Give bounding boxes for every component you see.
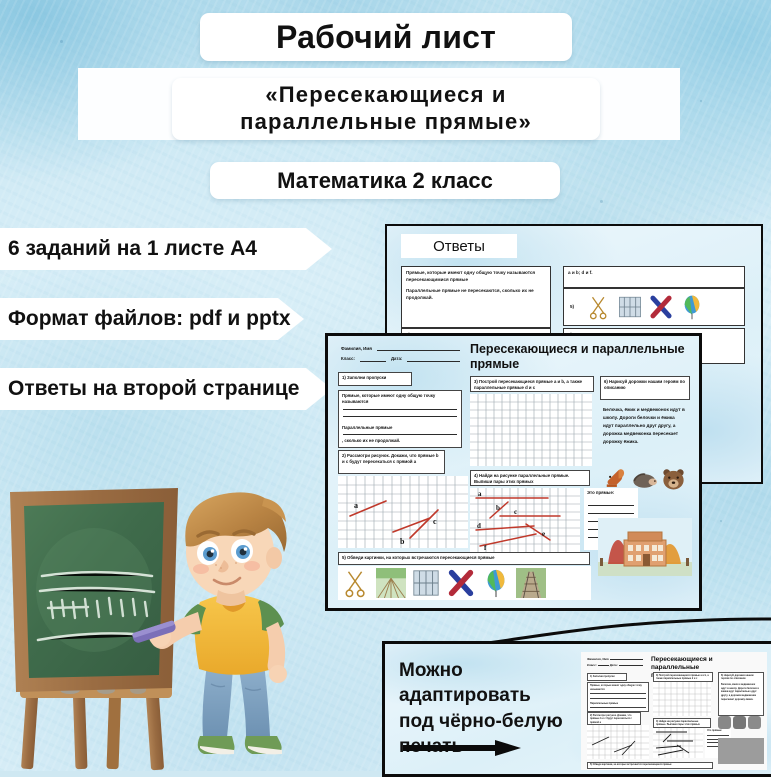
task-6-body: Белочка, ёжик и медвежонок идут в школу.…: [600, 404, 688, 447]
svg-text:e: e: [542, 530, 545, 538]
bw-text-line-1: Можно адаптировать: [399, 658, 569, 709]
answer-1b-text: Параллельные прямые не пересекаются, ско…: [402, 285, 550, 303]
bw-student-name-label: Фамилия, Имя: [587, 657, 609, 661]
answer-5-number: 5): [566, 301, 578, 312]
task-5-icon-strip[interactable]: [338, 566, 591, 600]
bw-title-line-1: Пересекающиеся и параллельные: [651, 656, 759, 672]
field-road-icon[interactable]: [376, 568, 406, 598]
letter-x-icon: [648, 294, 674, 320]
bw-task-4-grid: [653, 728, 703, 758]
bw-school-building-image: [718, 738, 764, 764]
balloon-icon: [679, 294, 705, 320]
answer-1-text: Прямые, которые имеют одну общую точку н…: [402, 267, 550, 285]
feature-badge-tasks-label: 6 заданий на 1 листе А4: [8, 237, 257, 261]
bw-task-1-body-1: Прямые, которые имеют одну общую точку н…: [590, 684, 646, 691]
worksheet-title-line-1: Пересекающиеся и параллельные: [470, 342, 692, 357]
scissors-icon: [586, 294, 612, 320]
worksheet-title-line-2: прямые: [470, 357, 692, 372]
feature-badge-tasks: 6 заданий на 1 листе А4: [0, 228, 332, 270]
task-1-body-2: Параллельные прямые: [339, 423, 461, 433]
bw-bear-icon: [748, 716, 761, 729]
task-1-answer-line-3[interactable]: [343, 434, 457, 435]
task-6-heading: 6) Нарисуй дорожки нашим героям по описа…: [601, 377, 689, 394]
date-label: Дата:: [388, 354, 405, 364]
task-6-heading-box: 6) Нарисуй дорожки нашим героям по описа…: [600, 376, 690, 400]
svg-text:b: b: [496, 504, 500, 512]
bw-task-3-grid: [653, 682, 711, 716]
hand-right: [269, 665, 287, 683]
class-label: Класс:: [338, 354, 358, 364]
bw-task-6-heading: 6) Нарисуй дорожки нашим героям по описа…: [721, 674, 761, 681]
railway-icon[interactable]: [516, 568, 546, 598]
window-icon: [617, 294, 643, 320]
answer-5-icons: [586, 293, 741, 321]
task-1-heading: 1) Заполни пропуски: [339, 373, 411, 383]
answers-sheet-title: Ответы: [401, 234, 517, 258]
svg-text:a: a: [478, 490, 482, 498]
bw-worksheet-preview[interactable]: Фамилия, Имя Класс: Дата: Пересекающиеся…: [581, 652, 767, 770]
scissors-icon[interactable]: [341, 568, 371, 598]
bw-date-label: Дата:: [610, 663, 618, 667]
green-chalkboard: [10, 488, 178, 692]
feature-badge-format: Формат файлов: pdf и pptx: [0, 298, 304, 340]
worksheet-title: Пересекающиеся и параллельные прямые: [470, 342, 692, 373]
answer-item-4: a и b; d и f.: [563, 266, 745, 288]
bw-text-line-2: под чёрно-белую: [399, 709, 569, 734]
task-1-body-box: Прямые, которые имеют одну общую точку н…: [338, 390, 462, 448]
bw-hedgehog-icon: [733, 716, 746, 729]
letter-x-icon[interactable]: [446, 568, 476, 598]
page-title: Рабочий лист: [200, 13, 572, 61]
task-4-heading-box: 4) Найди на рисунке параллельные прямые.…: [470, 470, 590, 486]
answer-item-5: 5): [563, 288, 745, 326]
task-1-answer-line-1[interactable]: [343, 409, 457, 410]
task-5-heading-box: 5) Обведи картинки, на которых встречают…: [338, 552, 590, 565]
task-3-grid[interactable]: [470, 394, 592, 466]
svg-text:a: a: [354, 501, 358, 510]
task-2-heading-box: 2) Рассмотри рисунок. Докажи, что прямые…: [338, 450, 445, 474]
worksheet-preview[interactable]: Фамилия, Имя Класс: Дата: Пересекающиеся…: [325, 333, 702, 611]
svg-text:b: b: [400, 537, 405, 546]
bw-task-3-heading: 3) Построй пересекающиеся прямые a и b, …: [656, 674, 710, 681]
window-icon[interactable]: [411, 568, 441, 598]
task-5-heading: 5) Обведи картинки, на которых встречают…: [339, 553, 589, 563]
page-subtitle: «Пересекающиеся и параллельные прямые»: [172, 78, 600, 140]
task-1-body-1: Прямые, которые имеют одну общую точку н…: [339, 391, 461, 408]
date-field[interactable]: [407, 361, 460, 362]
bw-task-5-heading: 5) Обведи картинки, на которых встречают…: [590, 764, 710, 766]
answer-item-1: Прямые, которые имеют одну общую точку н…: [401, 266, 551, 328]
bw-task-6-body: Белочка, ёжик и медвежонок идут в школу.…: [721, 683, 761, 702]
feature-badge-answers-label: Ответы на второй странице: [8, 377, 299, 401]
svg-text:c: c: [433, 517, 437, 526]
bw-squirrel-icon: [718, 716, 731, 729]
bw-task-4-heading: 4) Найди на рисунке параллельные прямые.…: [656, 720, 708, 727]
bear-icon: [660, 465, 687, 492]
class-field[interactable]: [360, 361, 386, 362]
task-2-heading: 2) Рассмотри рисунок. Докажи, что прямые…: [339, 451, 444, 468]
page-subtitle-line-1: «Пересекающиеся и: [265, 82, 506, 109]
feature-badge-format-label: Формат файлов: pdf и pptx: [8, 307, 291, 331]
grade-label: Математика 2 класс: [210, 162, 560, 199]
squirrel-icon: [600, 465, 627, 492]
task-2-grid-figure[interactable]: a b c: [338, 476, 468, 548]
bw-task-1-heading: 1) Заполни пропуски: [590, 675, 624, 678]
school-building-image: [598, 518, 692, 576]
svg-text:d: d: [477, 522, 481, 530]
bw-task-2-heading: 2) Рассмотри рисунок. Докажи, что прямые…: [590, 714, 638, 724]
task-1-body-3: , сколько их не продолжай.: [339, 436, 461, 446]
task-4-grid-figure[interactable]: a b c d e f: [470, 488, 580, 556]
hedgehog-icon: [630, 465, 657, 492]
right-arrow-icon: [403, 740, 521, 756]
task-6-animal-icons: [600, 464, 688, 492]
balloon-icon[interactable]: [481, 568, 511, 598]
task-4-heading: 4) Найди на рисунке параллельные прямые.…: [471, 471, 589, 488]
student-name-label: Фамилия, Имя: [338, 344, 375, 354]
svg-text:c: c: [514, 508, 517, 516]
answer-4-text: a и b; d и f.: [564, 267, 744, 278]
page-subtitle-line-2: параллельные прямые»: [240, 109, 532, 136]
task-1-heading-box: 1) Заполни пропуски: [338, 372, 412, 386]
student-name-field[interactable]: [377, 350, 460, 351]
feature-badge-answers: Ответы на второй странице: [0, 368, 332, 410]
boy-chalkboard-illustration: [2, 452, 326, 771]
task-3-heading: 3) Построй пересекающиеся прямые a и b, …: [471, 377, 593, 394]
bw-task-1-body-2: Параллельные прямые: [590, 702, 646, 705]
bw-task-2-grid: [587, 725, 649, 759]
bw-adaptation-card: Можно адаптировать под чёрно-белую печат…: [382, 641, 771, 777]
task-1-answer-line-2[interactable]: [343, 416, 457, 417]
task-3-heading-box: 3) Построй пересекающиеся прямые a и b, …: [470, 376, 594, 392]
bw-class-label: Класс:: [587, 663, 597, 667]
boy-at-chalkboard: [2, 452, 326, 771]
task-6-body-box: Белочка, ёжик и медвежонок идут в школу.…: [600, 404, 688, 462]
